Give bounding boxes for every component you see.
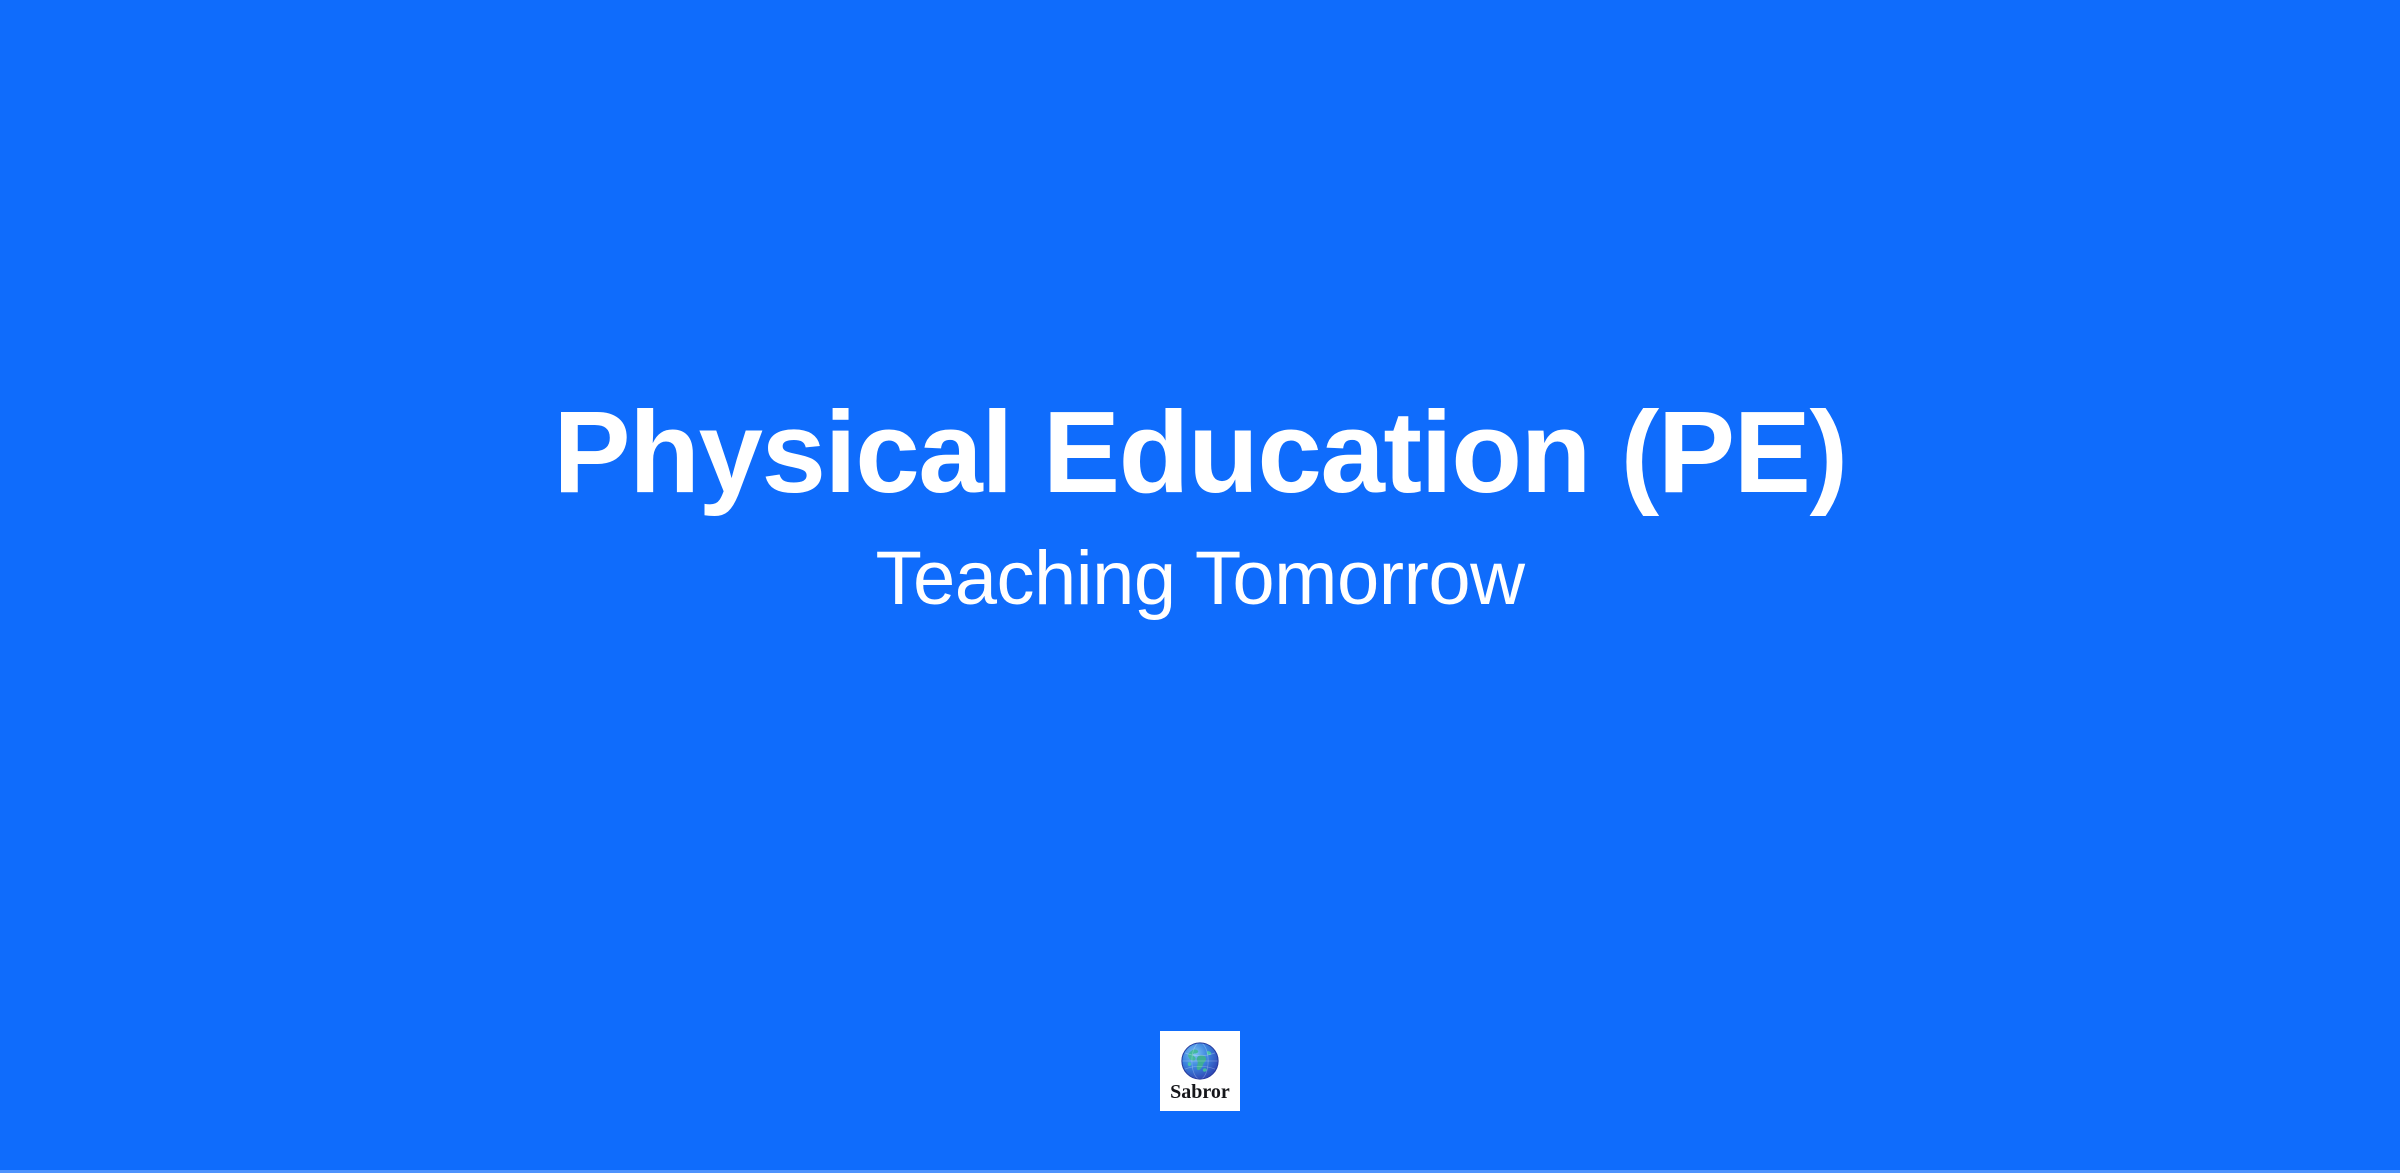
globe-icon [1180, 1041, 1220, 1081]
title-block: Physical Education (PE) Teaching Tomorro… [0, 392, 2400, 622]
page-title: Physical Education (PE) [80, 392, 2320, 513]
brand-logo[interactable]: Sabror [1160, 1031, 1240, 1111]
brand-name: Sabror [1170, 1082, 1230, 1102]
page-subtitle: Teaching Tomorrow [80, 535, 2320, 622]
presentation-slide: Physical Education (PE) Teaching Tomorro… [0, 0, 2400, 1173]
